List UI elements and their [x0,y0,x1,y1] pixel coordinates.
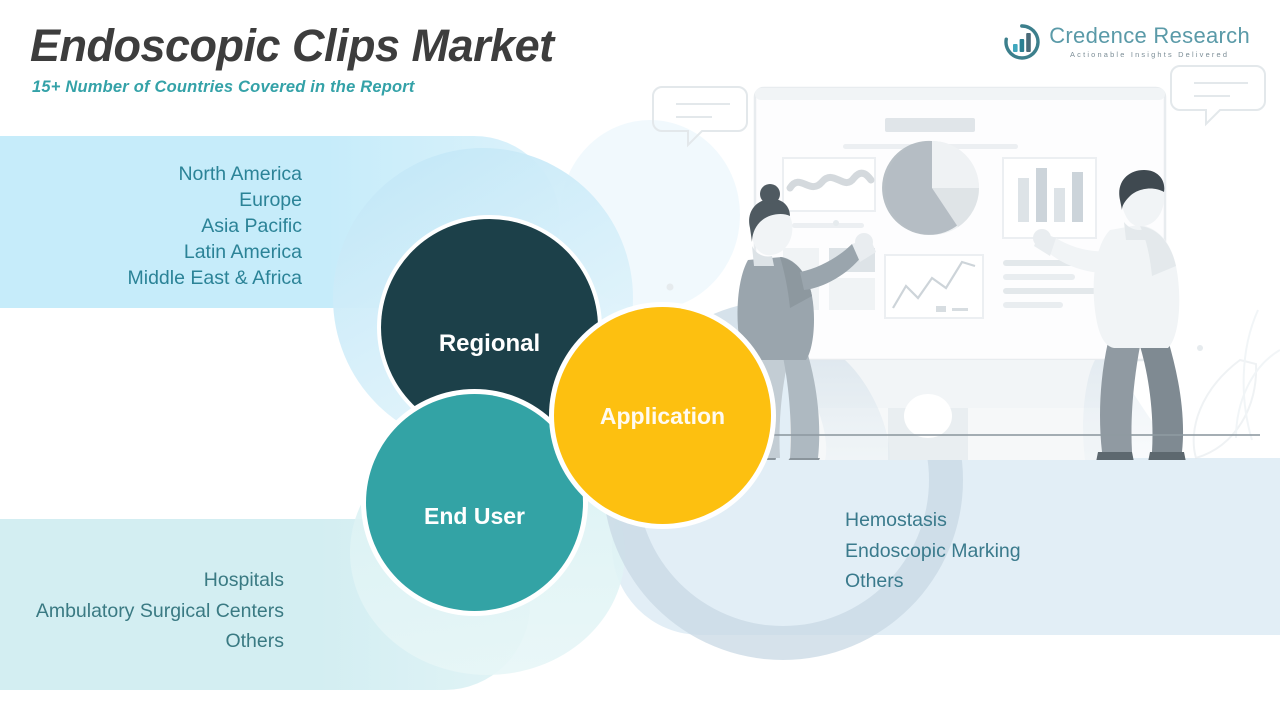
list-item: Latin America [128,239,303,265]
list-item: Middle East & Africa [128,265,303,291]
line-chart-card [885,255,983,318]
slide-header: Endoscopic Clips Market 15+ Number of Co… [0,0,1280,136]
logo-text-block: Credence Research Actionable Insights De… [1049,25,1250,58]
list-item: North America [128,161,303,187]
end-user-circle-label: End User [424,503,525,530]
dot-decoration [1197,345,1203,351]
list-item: Europe [128,187,303,213]
application-segment-circle[interactable]: Application [554,307,771,524]
regional-segment-list: North America Europe Asia Pacific Latin … [128,161,303,291]
bar-chart-circle-icon [1004,24,1040,60]
end-user-segment-circle[interactable]: End User [366,394,583,611]
pie-chart-icon [882,141,979,235]
page-subtitle: 15+ Number of Countries Covered in the R… [32,78,415,97]
list-item: Hemostasis [845,505,1021,536]
list-item: Ambulatory Surgical Centers [36,596,284,627]
bar-chart-card [1003,158,1096,238]
application-segment-list: Hemostasis Endoscopic Marking Others [845,505,1021,597]
company-logo[interactable]: Credence Research Actionable Insights De… [1004,24,1250,60]
slide-canvas: Endoscopic Clips Market 15+ Number of Co… [0,0,1280,720]
illustration-ground-line [700,434,1260,436]
list-item: Asia Pacific [128,213,303,239]
dot-decoration [667,284,674,291]
regional-circle-label: Regional [439,330,540,358]
application-circle-label: Application [600,403,725,430]
list-item: Others [845,566,1021,597]
logo-company-name: Credence Research [1049,25,1250,47]
dot-decoration [833,220,839,226]
list-item: Endoscopic Marking [845,536,1021,567]
logo-tagline: Actionable Insights Delivered [1049,51,1250,58]
list-item: Hospitals [36,565,284,596]
list-item: Others [36,626,284,657]
end-user-segment-list: Hospitals Ambulatory Surgical Centers Ot… [36,565,284,657]
page-title: Endoscopic Clips Market [30,20,554,72]
